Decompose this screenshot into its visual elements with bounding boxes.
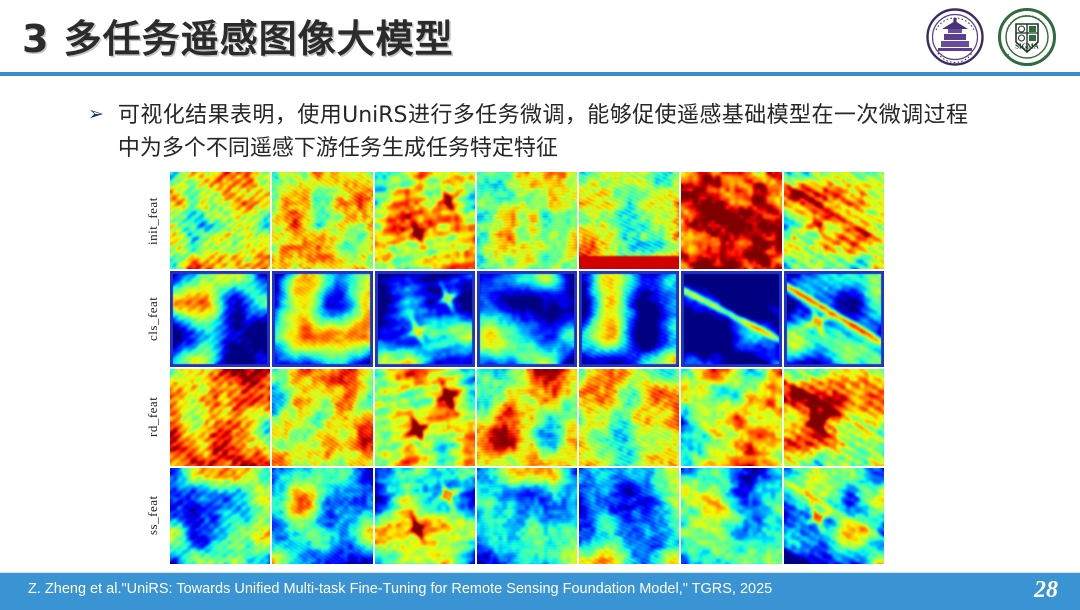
heatmap-tile [272, 172, 372, 269]
heatmap-tile [170, 468, 270, 565]
heatmap-tile [375, 468, 475, 565]
heatmap-tile [477, 271, 577, 368]
heatmap-tile [272, 468, 372, 565]
wuhan-university-logo [926, 8, 984, 66]
heatmap-tile [375, 271, 475, 368]
row-label-rd-feat: rd_feat [138, 368, 168, 466]
logo-group: SIGMA [926, 6, 1056, 68]
bullet-arrow-icon: ➢ [88, 99, 104, 165]
heatmap-tile [477, 172, 577, 269]
slide: 3 多任务遥感图像大模型 [0, 0, 1080, 610]
svg-text:SIGMA: SIGMA [1015, 43, 1039, 51]
heatmap-tile [784, 468, 884, 565]
page-number: 28 [1034, 577, 1058, 604]
feature-visualization-figure: init_feat cls_feat rd_feat ss_feat [138, 172, 884, 564]
row-label-ss-feat: ss_feat [138, 466, 168, 564]
heatmap-tile [170, 271, 270, 368]
heatmap-tile [784, 271, 884, 368]
heatmap-tile [681, 271, 781, 368]
heatmap-tile [681, 468, 781, 565]
bullet-paragraph: ➢ 可视化结果表明，使用UniRS进行多任务微调，能够促使遥感基础模型在一次微调… [88, 99, 968, 165]
slide-footer: Z. Zheng et al."UniRS: Towards Unified M… [0, 572, 1080, 610]
heatmap-tile [375, 369, 475, 466]
heatmap-tile [579, 468, 679, 565]
heatmap-tile [784, 369, 884, 466]
row-label-init-feat: init_feat [138, 172, 168, 270]
heatmap-tile [170, 172, 270, 269]
heatmap-tile [477, 468, 577, 565]
row-label-cls-feat: cls_feat [138, 270, 168, 368]
heatmap-tile [579, 172, 679, 269]
heatmap-tile [681, 369, 781, 466]
heatmap-grid [170, 172, 884, 564]
heatmap-tile [579, 369, 679, 466]
footer-divider [0, 572, 1080, 573]
heatmap-tile [375, 172, 475, 269]
slide-header: 3 多任务遥感图像大模型 [0, 0, 1080, 74]
heatmap-tile [784, 172, 884, 269]
figure-row-labels: init_feat cls_feat rd_feat ss_feat [138, 172, 168, 564]
citation-text: Z. Zheng et al."UniRS: Towards Unified M… [28, 581, 772, 597]
bullet-text: 可视化结果表明，使用UniRS进行多任务微调，能够促使遥感基础模型在一次微调过程… [118, 99, 968, 165]
heatmap-tile [272, 271, 372, 368]
sigma-lab-logo: SIGMA [998, 8, 1056, 66]
heatmap-tile [681, 172, 781, 269]
heatmap-tile [477, 369, 577, 466]
heatmap-tile [579, 271, 679, 368]
page-title: 3 多任务遥感图像大模型 [22, 8, 454, 63]
heatmap-tile [170, 369, 270, 466]
heatmap-tile [272, 369, 372, 466]
header-divider [0, 72, 1080, 76]
